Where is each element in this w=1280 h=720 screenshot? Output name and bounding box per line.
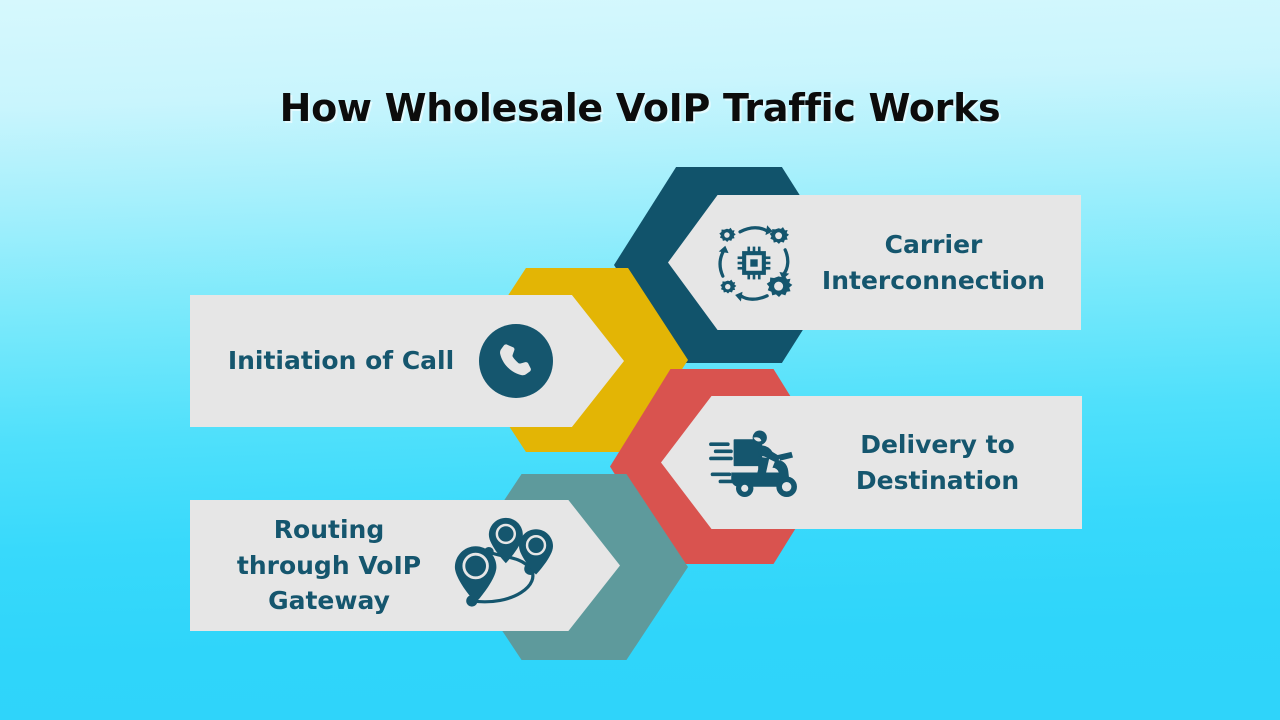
step-card-routing-through-voip-gateway[interactable]: Routing through VoIP Gateway [190,500,620,631]
infographic-canvas: How Wholesale VoIP Traffic Works [0,0,1280,720]
step-card-delivery-to-destination[interactable]: Delivery to Destination [661,396,1082,529]
step-card-initiation-of-call[interactable]: Initiation of Call [190,295,624,427]
step-card-label: Delivery to Destination [813,427,1062,498]
step-card-carrier-interconnection[interactable]: Carrier Interconnection [668,195,1081,330]
step-card-label: Routing through VoIP Gateway [214,512,444,619]
page-title: How Wholesale VoIP Traffic Works [0,86,1280,130]
step-card-label: Carrier Interconnection [806,227,1061,298]
delivery-scooter-icon [697,425,813,501]
route-map-pins-icon [444,516,562,616]
step-card-label: Initiation of Call [214,343,468,379]
phone-icon-badge [468,324,564,398]
gears-chip-icon [702,222,806,304]
phone-icon [496,341,536,381]
phone-icon-circle [479,324,553,398]
